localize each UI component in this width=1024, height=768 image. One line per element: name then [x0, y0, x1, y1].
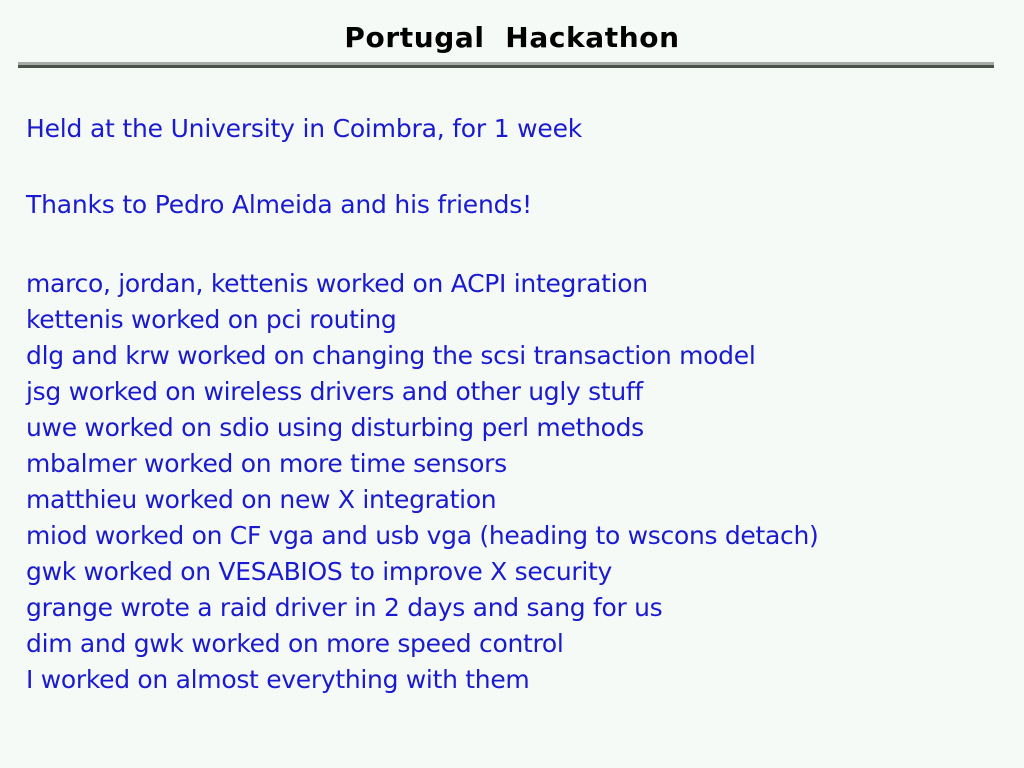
list-item: jsg worked on wireless drivers and other…: [26, 374, 986, 410]
list-item: mbalmer worked on more time sensors: [26, 446, 986, 482]
page-title: Portugal Hackathon: [0, 22, 1024, 54]
list-item: matthieu worked on new X integration: [26, 482, 986, 518]
list-item: uwe worked on sdio using disturbing perl…: [26, 410, 986, 446]
slide-body: Held at the University in Coimbra, for 1…: [26, 112, 986, 698]
intro-line-location: Held at the University in Coimbra, for 1…: [26, 112, 986, 146]
list-item: marco, jordan, kettenis worked on ACPI i…: [26, 266, 986, 302]
intro-line-thanks: Thanks to Pedro Almeida and his friends!: [26, 188, 986, 222]
paragraph-spacer: [26, 222, 986, 266]
intro-spacer: [26, 146, 986, 188]
list-item: miod worked on CF vga and usb vga (headi…: [26, 518, 986, 554]
divider-shadow: [18, 65, 994, 68]
slide: Portugal Hackathon Held at the Universit…: [0, 0, 1024, 768]
title-divider: [18, 62, 994, 68]
list-item: I worked on almost everything with them: [26, 662, 986, 698]
list-item: grange wrote a raid driver in 2 days and…: [26, 590, 986, 626]
list-item: kettenis worked on pci routing: [26, 302, 986, 338]
list-item: gwk worked on VESABIOS to improve X secu…: [26, 554, 986, 590]
list-item: dlg and krw worked on changing the scsi …: [26, 338, 986, 374]
work-items-list: marco, jordan, kettenis worked on ACPI i…: [26, 266, 986, 698]
list-item: dim and gwk worked on more speed control: [26, 626, 986, 662]
